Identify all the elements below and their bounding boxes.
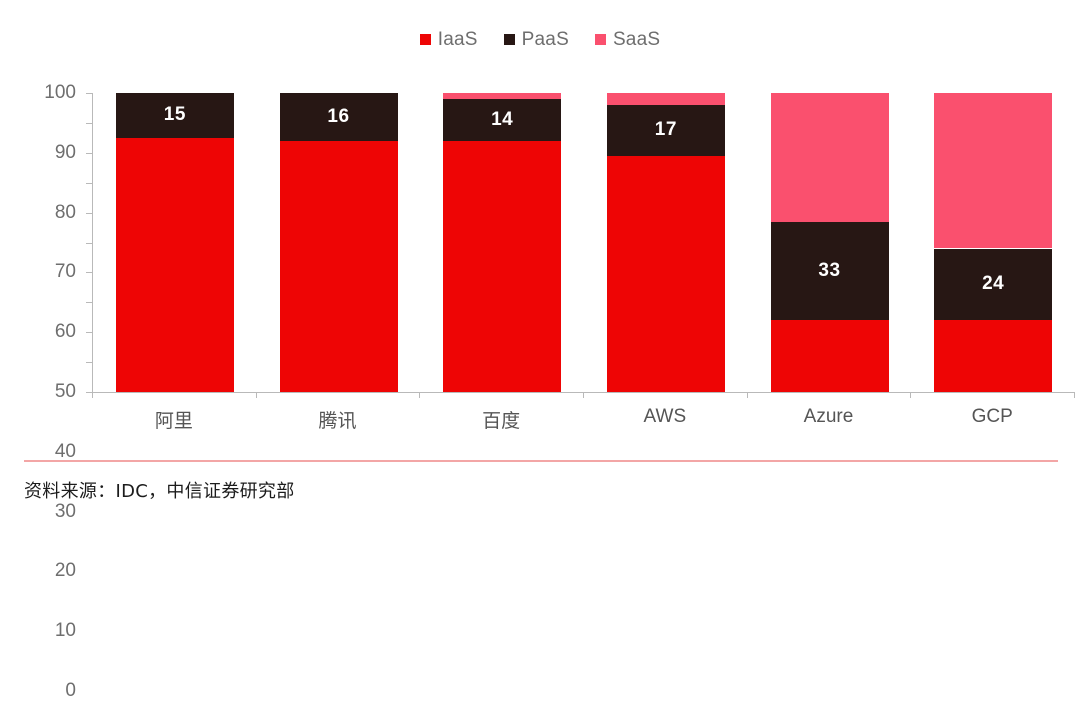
y-axis-tick: 30	[86, 302, 92, 303]
bar-segment-paas[interactable]: 17	[607, 105, 725, 156]
bar-value-label: 15	[164, 104, 186, 126]
x-axis-category-label: GCP	[972, 406, 1013, 428]
legend-item-iaas[interactable]: IaaS	[420, 30, 478, 49]
bar-segment-iaas[interactable]	[280, 141, 398, 392]
bar-segment-paas[interactable]: 24	[934, 249, 1052, 321]
y-axis-tick-label: 70	[55, 261, 76, 283]
bar-group[interactable]: 15	[116, 93, 234, 392]
bar-segment-paas[interactable]: 16	[280, 93, 398, 141]
bar-segment-iaas[interactable]	[607, 156, 725, 392]
x-axis-tick	[747, 392, 748, 398]
bar-segment-iaas[interactable]	[934, 320, 1052, 392]
bar-segment-saas[interactable]	[771, 93, 889, 222]
bar-segment-paas[interactable]: 14	[443, 99, 561, 141]
y-axis-tick: 50	[86, 243, 92, 244]
x-axis-tick	[1074, 392, 1075, 398]
bar-segment-paas[interactable]: 15	[116, 93, 234, 138]
legend-label: SaaS	[613, 30, 660, 49]
x-axis-category-label: 阿里	[155, 406, 193, 433]
y-axis-tick-label: 0	[65, 680, 76, 702]
x-axis-tick	[256, 392, 257, 398]
bar-group[interactable]: 24	[934, 93, 1052, 392]
x-axis-category-label: Azure	[804, 406, 854, 428]
bar-segment-paas[interactable]: 33	[771, 222, 889, 321]
plot-area: 151614173324	[93, 93, 1075, 392]
bar-segment-saas[interactable]	[443, 93, 561, 99]
legend-item-saas[interactable]: SaaS	[595, 30, 660, 49]
y-axis-tick-label: 60	[55, 321, 76, 343]
square-swatch-icon	[420, 34, 431, 45]
bar-group[interactable]: 33	[771, 93, 889, 392]
bar-group[interactable]: 17	[607, 93, 725, 392]
bar-value-label: 16	[327, 106, 349, 128]
square-swatch-icon	[595, 34, 606, 45]
x-axis-category-label: 百度	[482, 406, 520, 433]
x-axis-category-label: AWS	[644, 406, 687, 428]
bar-value-label: 17	[655, 119, 677, 141]
bar-group[interactable]: 16	[280, 93, 398, 392]
y-axis-tick: 60	[86, 213, 92, 214]
y-axis-tick-label: 80	[55, 202, 76, 224]
y-axis-tick: 20	[86, 332, 92, 333]
bar-segment-saas[interactable]	[607, 93, 725, 105]
bar-value-label: 14	[491, 109, 513, 131]
y-axis-tick: 80	[86, 153, 92, 154]
square-swatch-icon	[504, 34, 515, 45]
bar-value-label: 24	[982, 273, 1004, 295]
bar-segment-iaas[interactable]	[443, 141, 561, 392]
x-axis-tick	[92, 392, 93, 398]
bar-segment-iaas[interactable]	[771, 320, 889, 392]
bar-segment-iaas[interactable]	[116, 138, 234, 392]
footer-divider	[24, 460, 1058, 462]
source-note: 资料来源：IDC，中信证券研究部	[24, 477, 295, 503]
y-axis-tick-label: 90	[55, 142, 76, 164]
bar-segment-saas[interactable]	[934, 93, 1052, 248]
y-axis-tick-label: 10	[55, 620, 76, 642]
y-axis-tick-label: 100	[44, 82, 76, 104]
y-axis-tick: 90	[86, 123, 92, 124]
x-axis-tick	[419, 392, 420, 398]
x-axis: 阿里腾讯百度AWSAzureGCP	[92, 392, 1075, 393]
chart-legend: IaaSPaaSSaaS	[0, 30, 1080, 49]
y-axis-tick: 100	[86, 93, 92, 94]
y-axis-tick-label: 30	[55, 501, 76, 523]
bar-value-label: 33	[818, 260, 840, 282]
y-axis-tick-label: 20	[55, 560, 76, 582]
y-axis: 0102030405060708090100	[92, 93, 93, 393]
legend-item-paas[interactable]: PaaS	[504, 30, 569, 49]
legend-label: IaaS	[438, 30, 478, 49]
y-axis-tick-label: 50	[55, 381, 76, 403]
legend-label: PaaS	[522, 30, 569, 49]
y-axis-tick: 10	[86, 362, 92, 363]
y-axis-tick: 70	[86, 183, 92, 184]
x-axis-tick	[910, 392, 911, 398]
x-axis-category-label: 腾讯	[318, 406, 356, 433]
x-axis-tick	[583, 392, 584, 398]
bar-group[interactable]: 14	[443, 93, 561, 392]
y-axis-tick: 40	[86, 272, 92, 273]
